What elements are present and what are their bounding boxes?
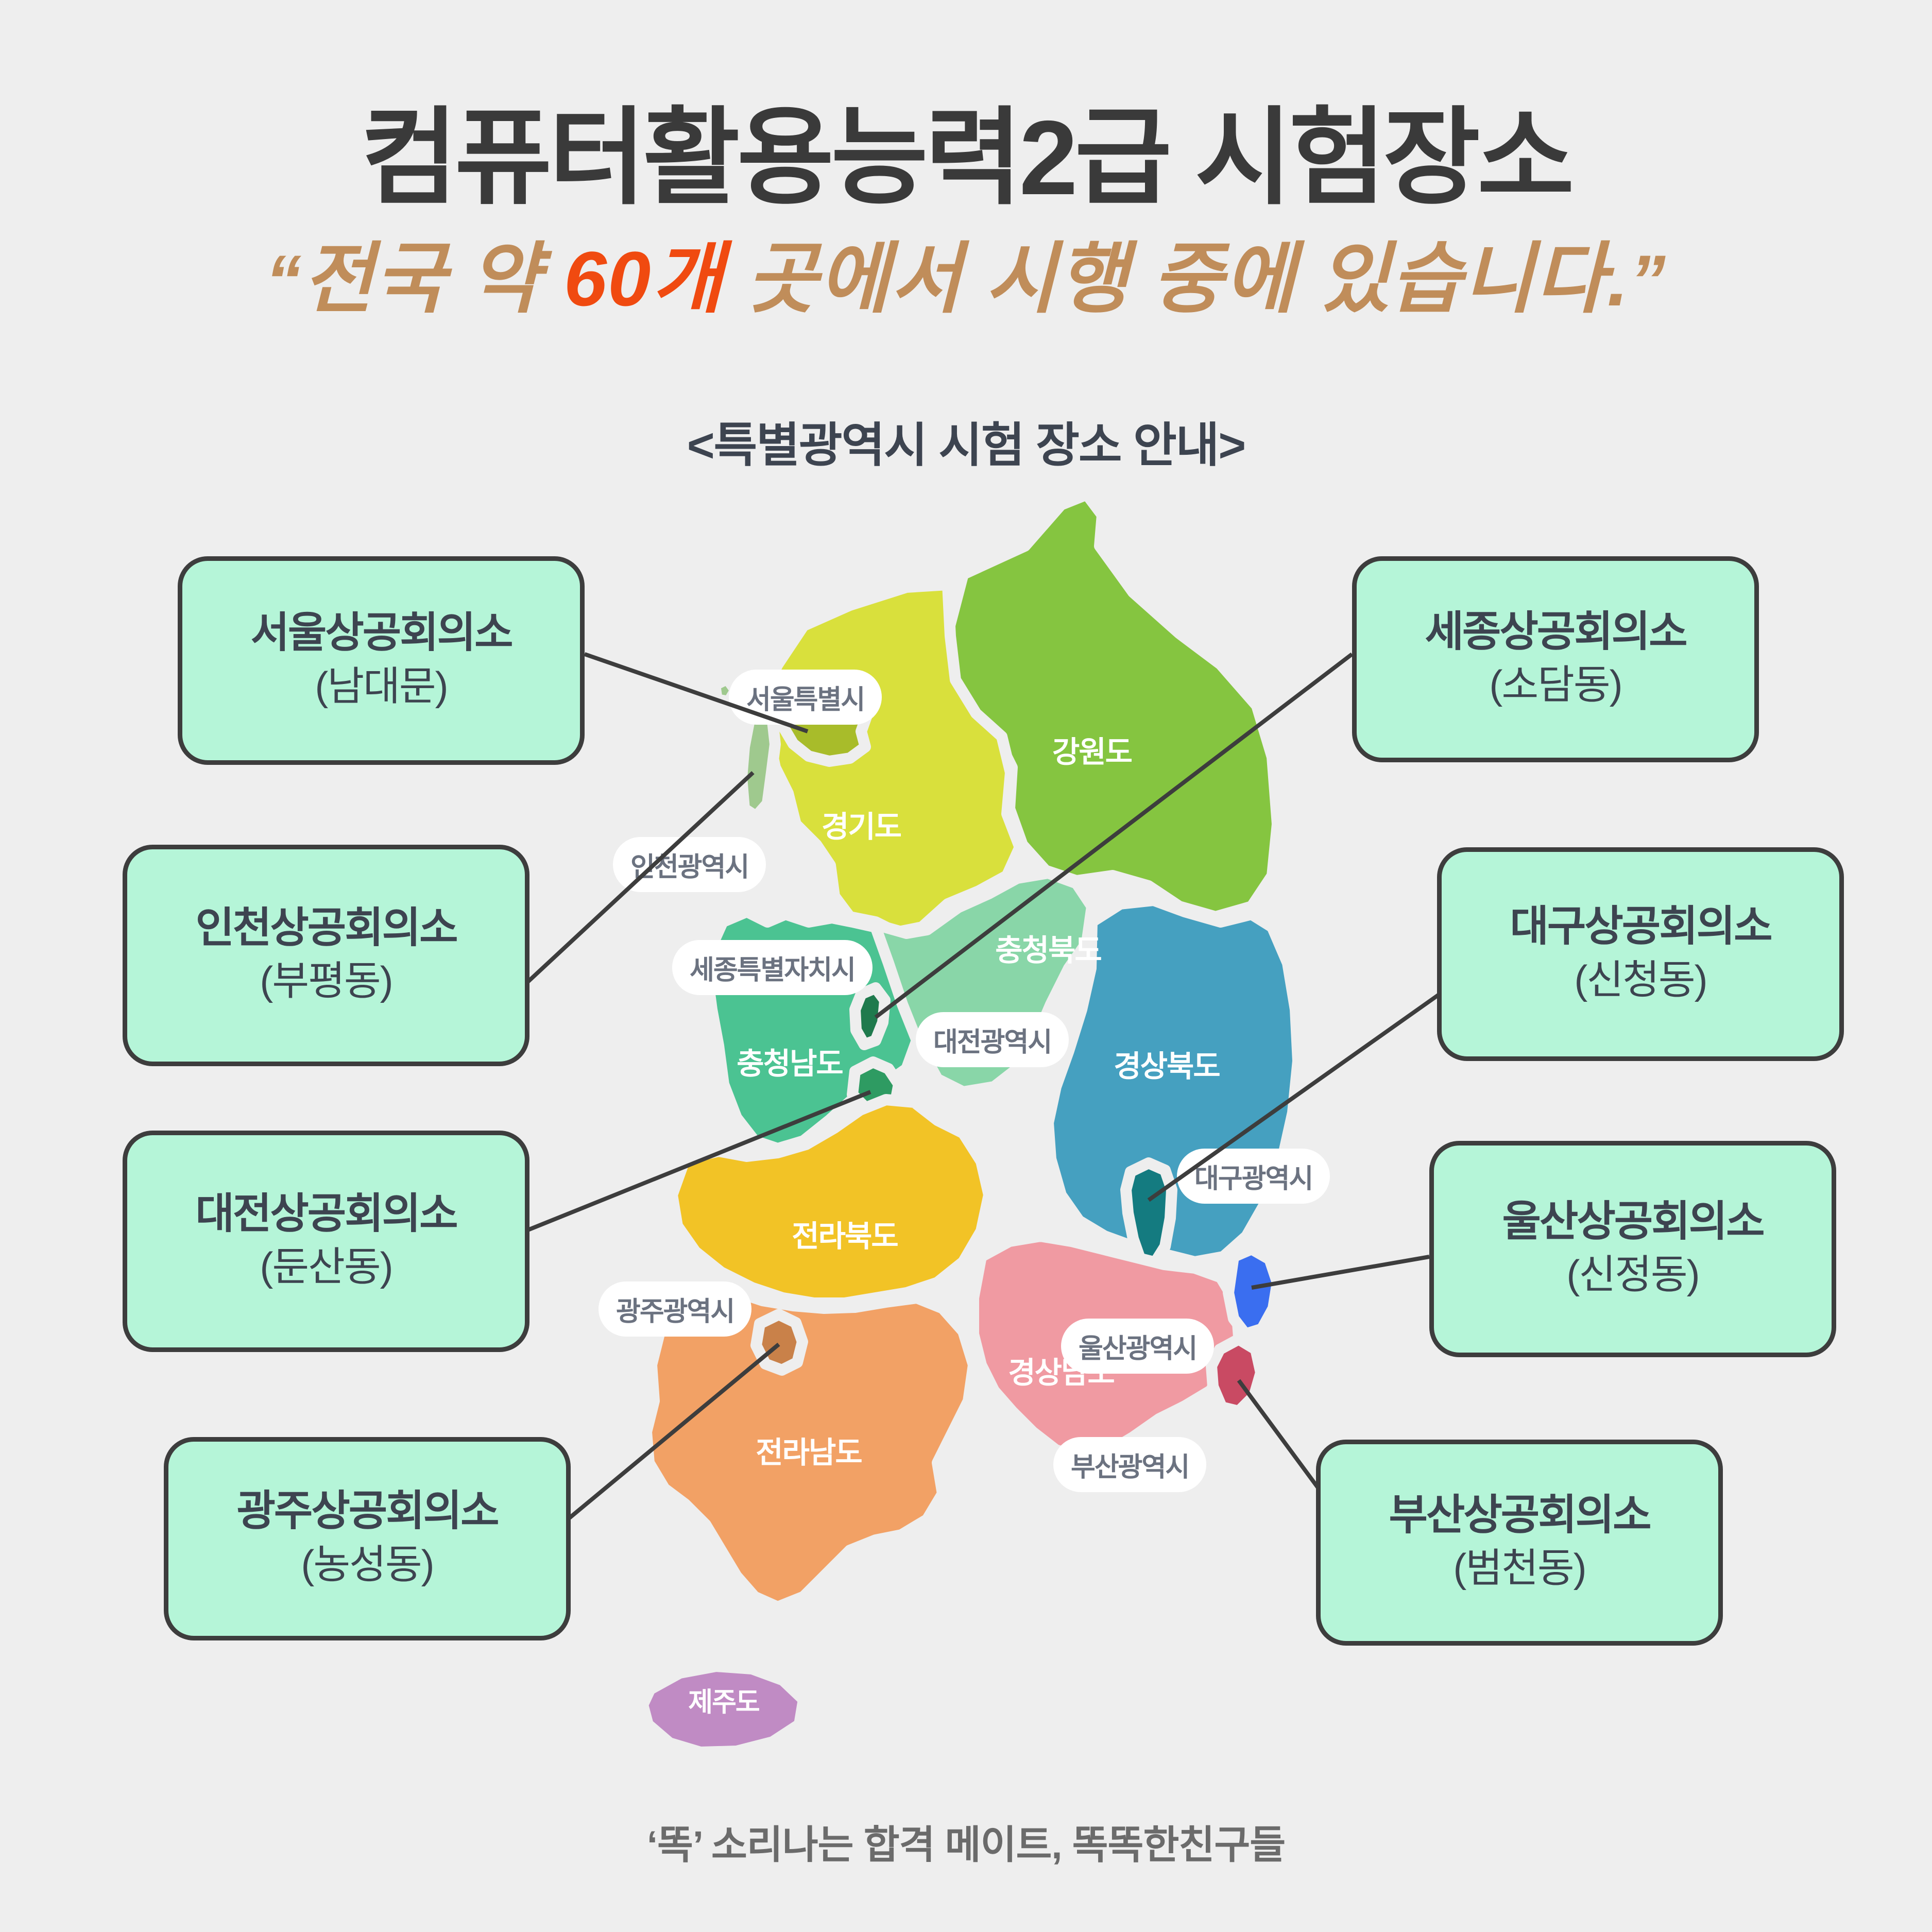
card-ulsan-name: 울산상공회의소 — [1502, 1199, 1763, 1245]
region-label-chungnam: 충청남도 — [737, 1039, 842, 1083]
region-busan — [1211, 1339, 1261, 1411]
region-jeonbuk — [672, 1100, 989, 1303]
region-label-jeonnam: 전라남도 — [756, 1428, 861, 1472]
card-daegu-chamber[interactable]: 대구상공회의소 (신청동) — [1437, 847, 1844, 1061]
region-label-chungbuk: 충청북도 — [995, 926, 1101, 969]
card-daejeon-chamber[interactable]: 대전상공회의소 (둔산동) — [123, 1131, 529, 1352]
card-gwangju-district: (농성동) — [301, 1541, 433, 1589]
card-ulsan-chamber[interactable]: 울산상공회의소 (신정동) — [1429, 1141, 1836, 1357]
region-label-jeonbuk: 전라북도 — [792, 1212, 897, 1255]
region-label-gyeongbuk: 경상북도 — [1114, 1042, 1219, 1085]
card-daegu-name: 대구상공회의소 — [1510, 904, 1771, 950]
card-gwangju-chamber[interactable]: 광주상공회의소 (농성동) — [164, 1437, 571, 1640]
infographic-poster: 컴퓨터활용능력2급 시험장소 “전국 약 60개 곳에서 시행 중에 있습니다.… — [0, 0, 1932, 1932]
card-incheon-name: 인천상공회의소 — [195, 905, 456, 951]
region-label-jeju: 제주도 — [688, 1681, 759, 1719]
card-busan-name: 부산상공회의소 — [1389, 1493, 1650, 1538]
card-sejong-name: 세종상공회의소 — [1425, 609, 1686, 655]
card-seoul-district: (남대문) — [315, 662, 447, 711]
map-pill-daegu[interactable]: 대구광역시 — [1177, 1149, 1330, 1204]
card-seoul-name: 서울상공회의소 — [250, 610, 511, 656]
map-pill-daejeon[interactable]: 대전광역시 — [916, 1012, 1069, 1067]
card-busan-district: (범천동) — [1453, 1544, 1585, 1593]
card-daejeon-district: (둔산동) — [260, 1243, 392, 1291]
region-ulsan — [1228, 1249, 1277, 1334]
card-seoul-chamber[interactable]: 서울상공회의소 (남대문) — [178, 556, 585, 765]
region-incheon — [742, 713, 775, 816]
card-daejeon-name: 대전상공회의소 — [195, 1191, 456, 1237]
map-pill-ulsan[interactable]: 울산광역시 — [1061, 1319, 1214, 1374]
region-label-gyeonggi: 경기도 — [822, 802, 901, 846]
map-pill-gwangju[interactable]: 광주광역시 — [599, 1281, 751, 1337]
card-sejong-chamber[interactable]: 세종상공회의소 (소담동) — [1352, 556, 1759, 762]
map-pill-busan[interactable]: 부산광역시 — [1053, 1437, 1206, 1492]
region-gwangju — [756, 1314, 802, 1370]
map-pill-incheon[interactable]: 인천광역시 — [613, 837, 766, 892]
card-daegu-district: (신청동) — [1574, 956, 1706, 1004]
card-busan-chamber[interactable]: 부산상공회의소 (범천동) — [1316, 1440, 1723, 1646]
region-label-gangwon: 강원도 — [1052, 728, 1132, 771]
region-sejong — [855, 988, 885, 1045]
card-gwangju-name: 광주상공회의소 — [236, 1489, 498, 1534]
map-pill-sejong[interactable]: 세종특별자치시 — [672, 940, 873, 995]
map-pill-seoul[interactable]: 서울특별시 — [729, 670, 882, 725]
card-incheon-district: (부평동) — [260, 957, 392, 1005]
card-incheon-chamber[interactable]: 인천상공회의소 (부평동) — [123, 845, 529, 1066]
card-sejong-district: (소담동) — [1489, 661, 1621, 709]
region-daegu — [1126, 1163, 1172, 1264]
card-ulsan-district: (신정동) — [1566, 1251, 1699, 1299]
